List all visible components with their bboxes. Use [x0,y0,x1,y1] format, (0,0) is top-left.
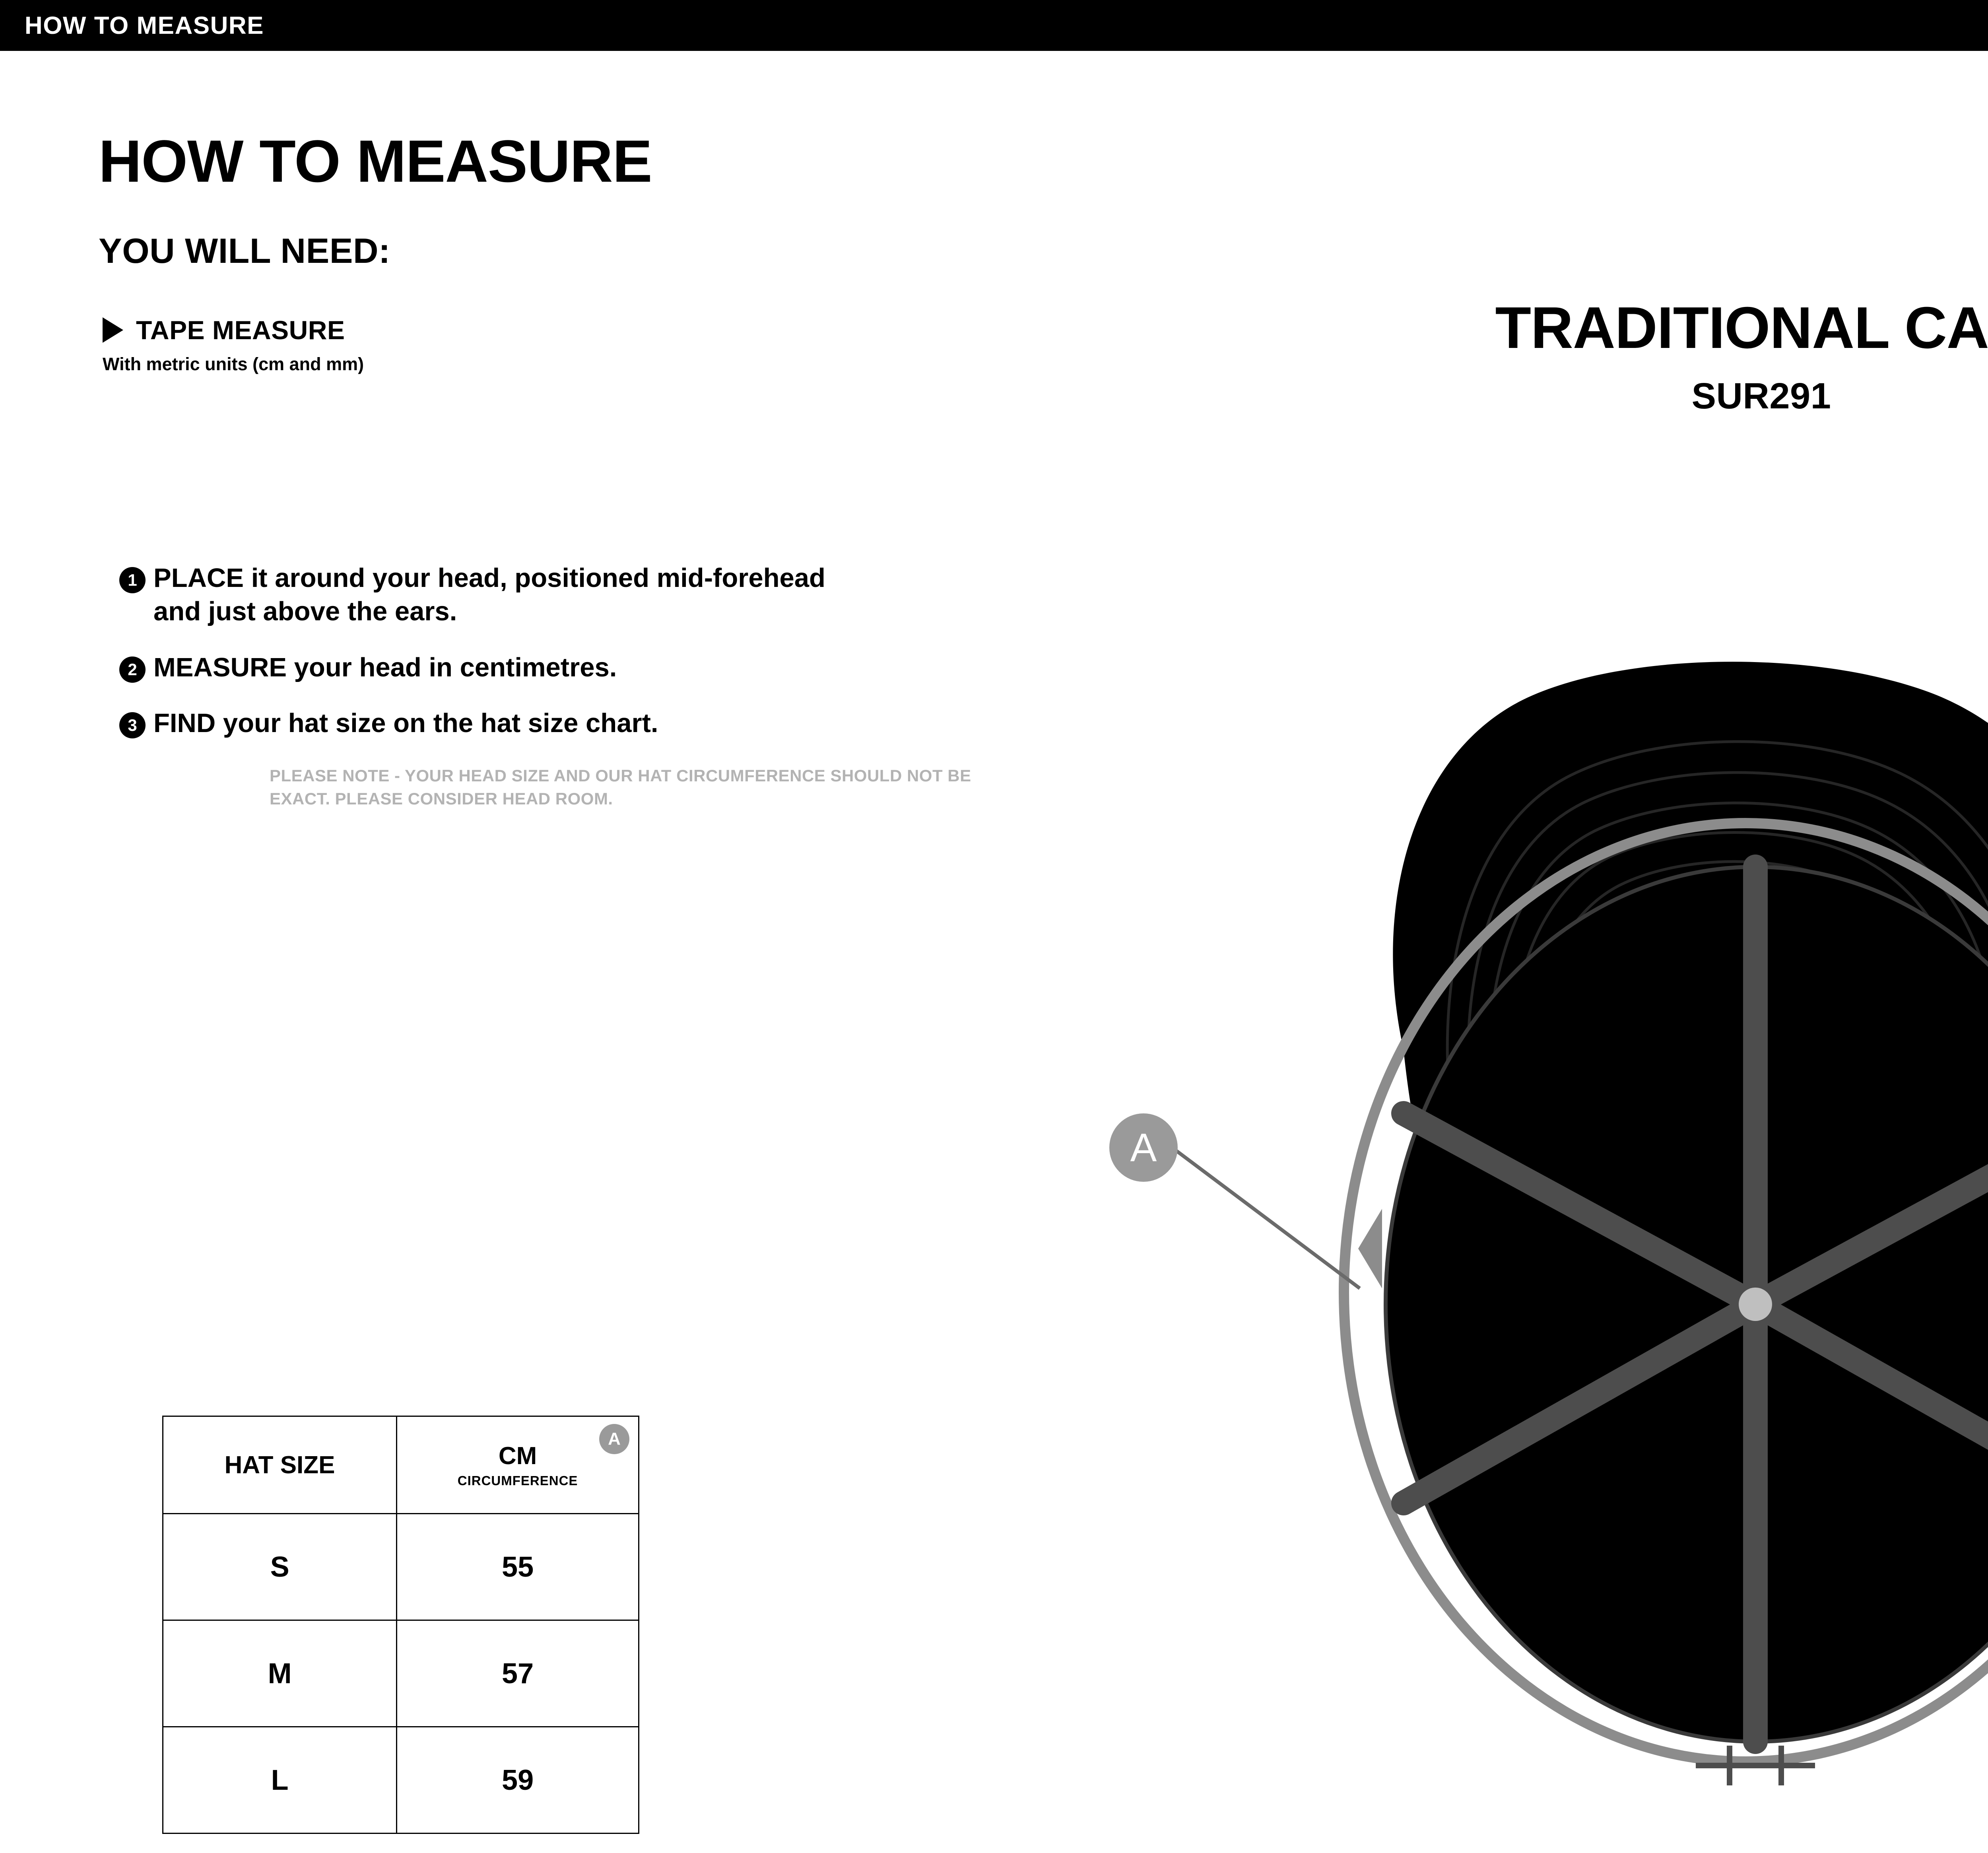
cell-cm: 57 [397,1620,639,1727]
disclaimer-note: PLEASE NOTE - YOUR HEAD SIZE AND OUR HAT… [270,764,1013,810]
cap-centre-button [1739,1288,1772,1321]
cell-cm: 55 [397,1514,639,1620]
cap-illustration [1054,549,1988,1821]
triangle-right-icon [103,317,123,343]
table-row: S 55 [163,1514,639,1620]
product-header: TRADITIONAL CAP SUR291 [1193,294,1988,417]
step-item: 3 FIND your hat size on the hat size cha… [119,707,1013,740]
need-item-label: TAPE MEASURE [136,315,345,345]
steps-list: 1 PLACE it around your head, positioned … [119,561,1013,740]
table-header-cm-main: CM [405,1442,630,1470]
product-code: SUR291 [1193,375,1988,417]
table-header-cm-sub: CIRCUMFERENCE [405,1473,630,1488]
cell-hat-size: S [163,1514,397,1620]
table-header-cm: CM CIRCUMFERENCE A [397,1416,639,1514]
hat-size-table: HAT SIZE CM CIRCUMFERENCE A S 55 M 57 L … [162,1416,639,1834]
you-will-need-heading: YOU WILL NEED: [99,231,1013,271]
measurement-badge-a: A [599,1424,629,1454]
top-bar-title: HOW TO MEASURE [25,12,264,40]
table-header-hat-size: HAT SIZE [163,1416,397,1514]
need-item-tape-measure: TAPE MEASURE [103,315,1013,345]
top-bar: HOW TO MEASURE SS SURRIDGE [0,0,1988,51]
page-title: HOW TO MEASURE [99,131,1013,191]
step-item: 1 PLACE it around your head, positioned … [119,561,1013,629]
step-number-badge: 3 [119,712,146,738]
cell-cm: 59 [397,1727,639,1834]
cell-hat-size: L [163,1727,397,1834]
callout-leader-line [1169,1145,1360,1288]
step-text: MEASURE your head in centimetres. [153,651,617,684]
ring-arrow-left [1358,1209,1382,1288]
need-item-sublabel: With metric units (cm and mm) [103,354,1013,375]
step-item: 2 MEASURE your head in centimetres. [119,651,1013,684]
table-row: M 57 [163,1620,639,1727]
step-text: FIND your hat size on the hat size chart… [153,707,658,740]
step-number-badge: 2 [119,657,146,683]
cell-hat-size: M [163,1620,397,1727]
product-title: TRADITIONAL CAP [1193,294,1988,362]
callout-badge-a: A [1109,1113,1178,1182]
table-row: L 59 [163,1727,639,1834]
step-text: PLACE it around your head, positioned mi… [153,561,829,629]
table-header-row: HAT SIZE CM CIRCUMFERENCE A [163,1416,639,1514]
step-number-badge: 1 [119,567,146,593]
left-column: HOW TO MEASURE YOU WILL NEED: TAPE MEASU… [99,131,1013,810]
